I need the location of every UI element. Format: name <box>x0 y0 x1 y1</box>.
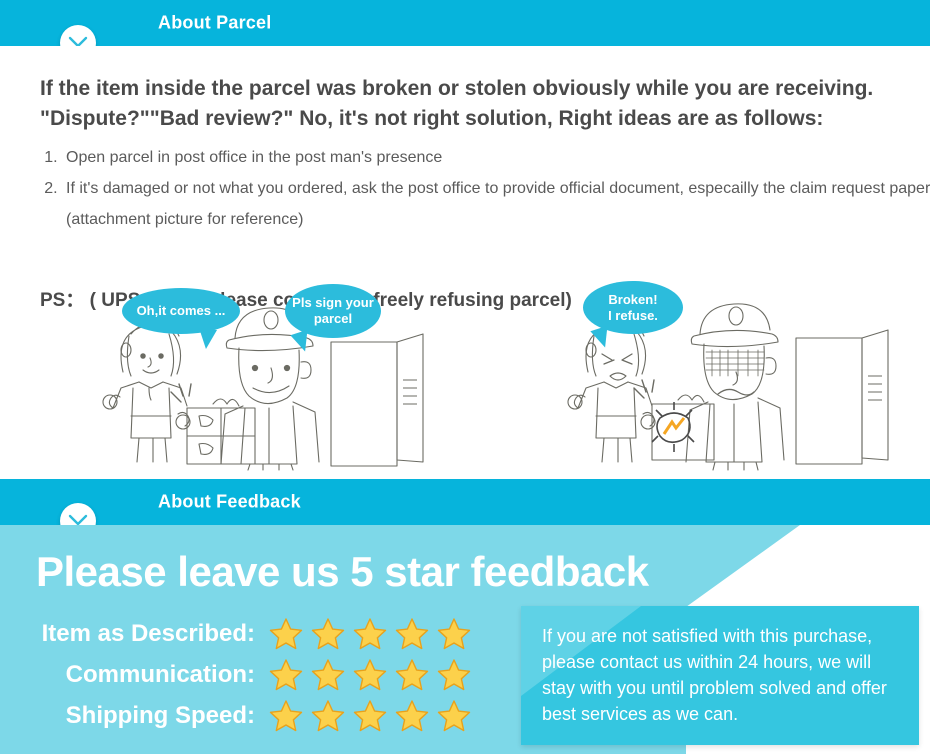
star-icon[interactable] <box>311 658 345 691</box>
speech-bubble-oh-it-comes: Oh,it comes ... <box>122 288 240 334</box>
info-box-text: If you are not satisfied with this purch… <box>542 623 902 727</box>
star-icon[interactable] <box>269 699 303 732</box>
star-icon[interactable] <box>353 658 387 691</box>
list-item: If it's damaged or not what you ordered,… <box>62 173 930 235</box>
rating-label: Communication: <box>0 661 269 689</box>
star-icon[interactable] <box>395 658 429 691</box>
rating-label: Item as Described: <box>0 620 269 648</box>
about-feedback-header: About Feedback <box>0 479 930 525</box>
star-icon[interactable] <box>353 617 387 650</box>
parcel-steps-list: Open parcel in post office in the post m… <box>40 142 930 235</box>
bubble-text-line1: Broken! <box>608 292 657 307</box>
bubble-tail <box>197 328 217 350</box>
parcel-lead-line2: "Dispute?""Bad review?" No, it's not rig… <box>40 104 908 134</box>
satisfaction-info-box: If you are not satisfied with this purch… <box>521 606 919 745</box>
speech-bubble-pls-sign: Pls sign your parcel <box>285 284 381 338</box>
rating-label: Shipping Speed: <box>0 702 269 730</box>
star-icon[interactable] <box>269 658 303 691</box>
star-icon[interactable] <box>353 699 387 732</box>
rating-rows: Item as Described: Communication: <box>0 613 520 736</box>
star-icon[interactable] <box>437 617 471 650</box>
star-rating[interactable] <box>269 658 471 691</box>
promo-page: About Parcel If the item inside the parc… <box>0 0 930 754</box>
speech-bubble-broken-i-refuse: Broken! I refuse. <box>583 281 683 334</box>
rating-row-shipping-speed: Shipping Speed: <box>0 695 520 736</box>
feedback-headline: Please leave us 5 star feedback <box>36 548 649 596</box>
list-item: Open parcel in post office in the post m… <box>62 142 930 173</box>
star-icon[interactable] <box>395 699 429 732</box>
bubble-text: Pls sign your parcel <box>292 295 374 327</box>
bubble-text-line2: I refuse. <box>608 308 658 323</box>
star-icon[interactable] <box>395 617 429 650</box>
star-icon[interactable] <box>437 699 471 732</box>
about-parcel-title: About Parcel <box>158 13 271 34</box>
rating-row-item-as-described: Item as Described: <box>0 613 520 654</box>
parcel-lead-text: If the item inside the parcel was broken… <box>40 74 908 134</box>
star-rating[interactable] <box>269 617 471 650</box>
star-icon[interactable] <box>311 617 345 650</box>
bubble-text: Oh,it comes ... <box>137 303 226 319</box>
rating-row-communication: Communication: <box>0 654 520 695</box>
about-feedback-title: About Feedback <box>158 492 301 513</box>
parcel-lead-line1: If the item inside the parcel was broken… <box>40 77 873 100</box>
star-icon[interactable] <box>269 617 303 650</box>
bubble-text: Broken! I refuse. <box>608 292 658 324</box>
star-icon[interactable] <box>437 658 471 691</box>
bubble-text-line2: parcel <box>314 311 352 326</box>
star-icon[interactable] <box>311 699 345 732</box>
star-rating[interactable] <box>269 699 471 732</box>
about-parcel-header: About Parcel <box>0 0 930 46</box>
bubble-text-line1: Pls sign your <box>292 295 374 310</box>
